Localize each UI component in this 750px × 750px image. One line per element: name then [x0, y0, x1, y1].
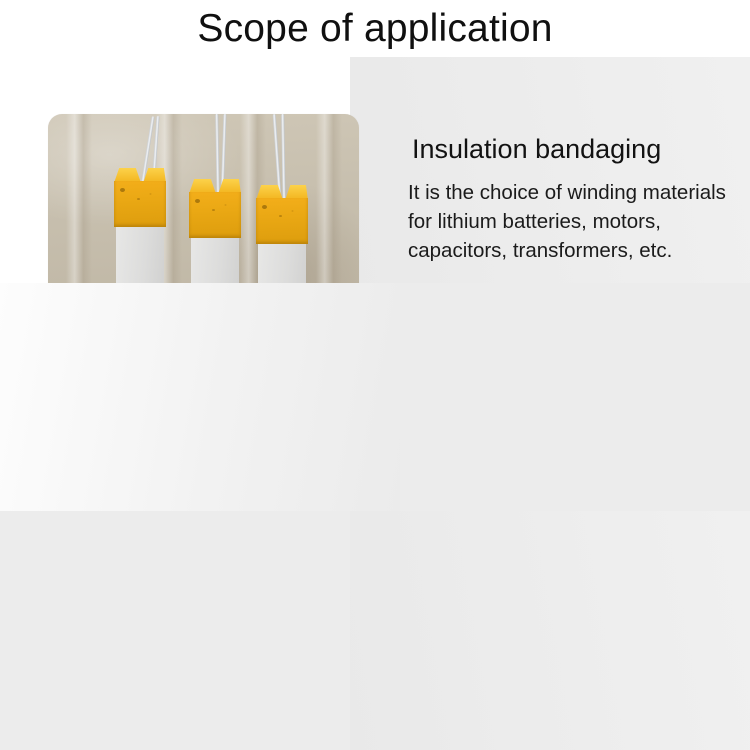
panel3-background: [350, 511, 750, 750]
battery-cell: [114, 181, 166, 283]
infographic-page: Scope of application: [0, 0, 750, 750]
body-line: It is the choice of winding materials: [408, 178, 748, 207]
cell-body: [191, 238, 239, 283]
battery-cell: [256, 198, 308, 283]
cell-body: [258, 244, 306, 283]
body-line: for lithium batteries, motors,: [408, 207, 748, 236]
cloth-fold: [66, 114, 92, 283]
kapton-tape: [256, 198, 308, 244]
section-body: It is the choice of winding materials fo…: [408, 178, 748, 265]
kapton-tape: [114, 181, 166, 227]
section-insulation-bandaging: Insulation bandaging It is the choice of…: [0, 57, 750, 283]
kapton-tape: [189, 192, 241, 238]
page-title: Scope of application: [197, 9, 552, 48]
section-spray-paint-protection: Spray paint protection Suitable for shie…: [0, 511, 750, 750]
battery-cells-kapton-tape-photo: [48, 114, 359, 283]
body-line: capacitors, transformers, etc.: [408, 236, 748, 265]
cell-body: [116, 227, 164, 283]
panel2-background: [0, 283, 400, 511]
battery-cell: [189, 192, 241, 283]
page-title-bar: Scope of application: [0, 0, 750, 57]
section-smt-high-temperature-protect: SMT high temperature protect Suitable fo…: [0, 283, 750, 511]
insulation-bandaging-text: Insulation bandaging It is the choice of…: [408, 135, 748, 265]
cloth-fold: [316, 114, 342, 283]
section-heading: Insulation bandaging: [408, 135, 748, 165]
